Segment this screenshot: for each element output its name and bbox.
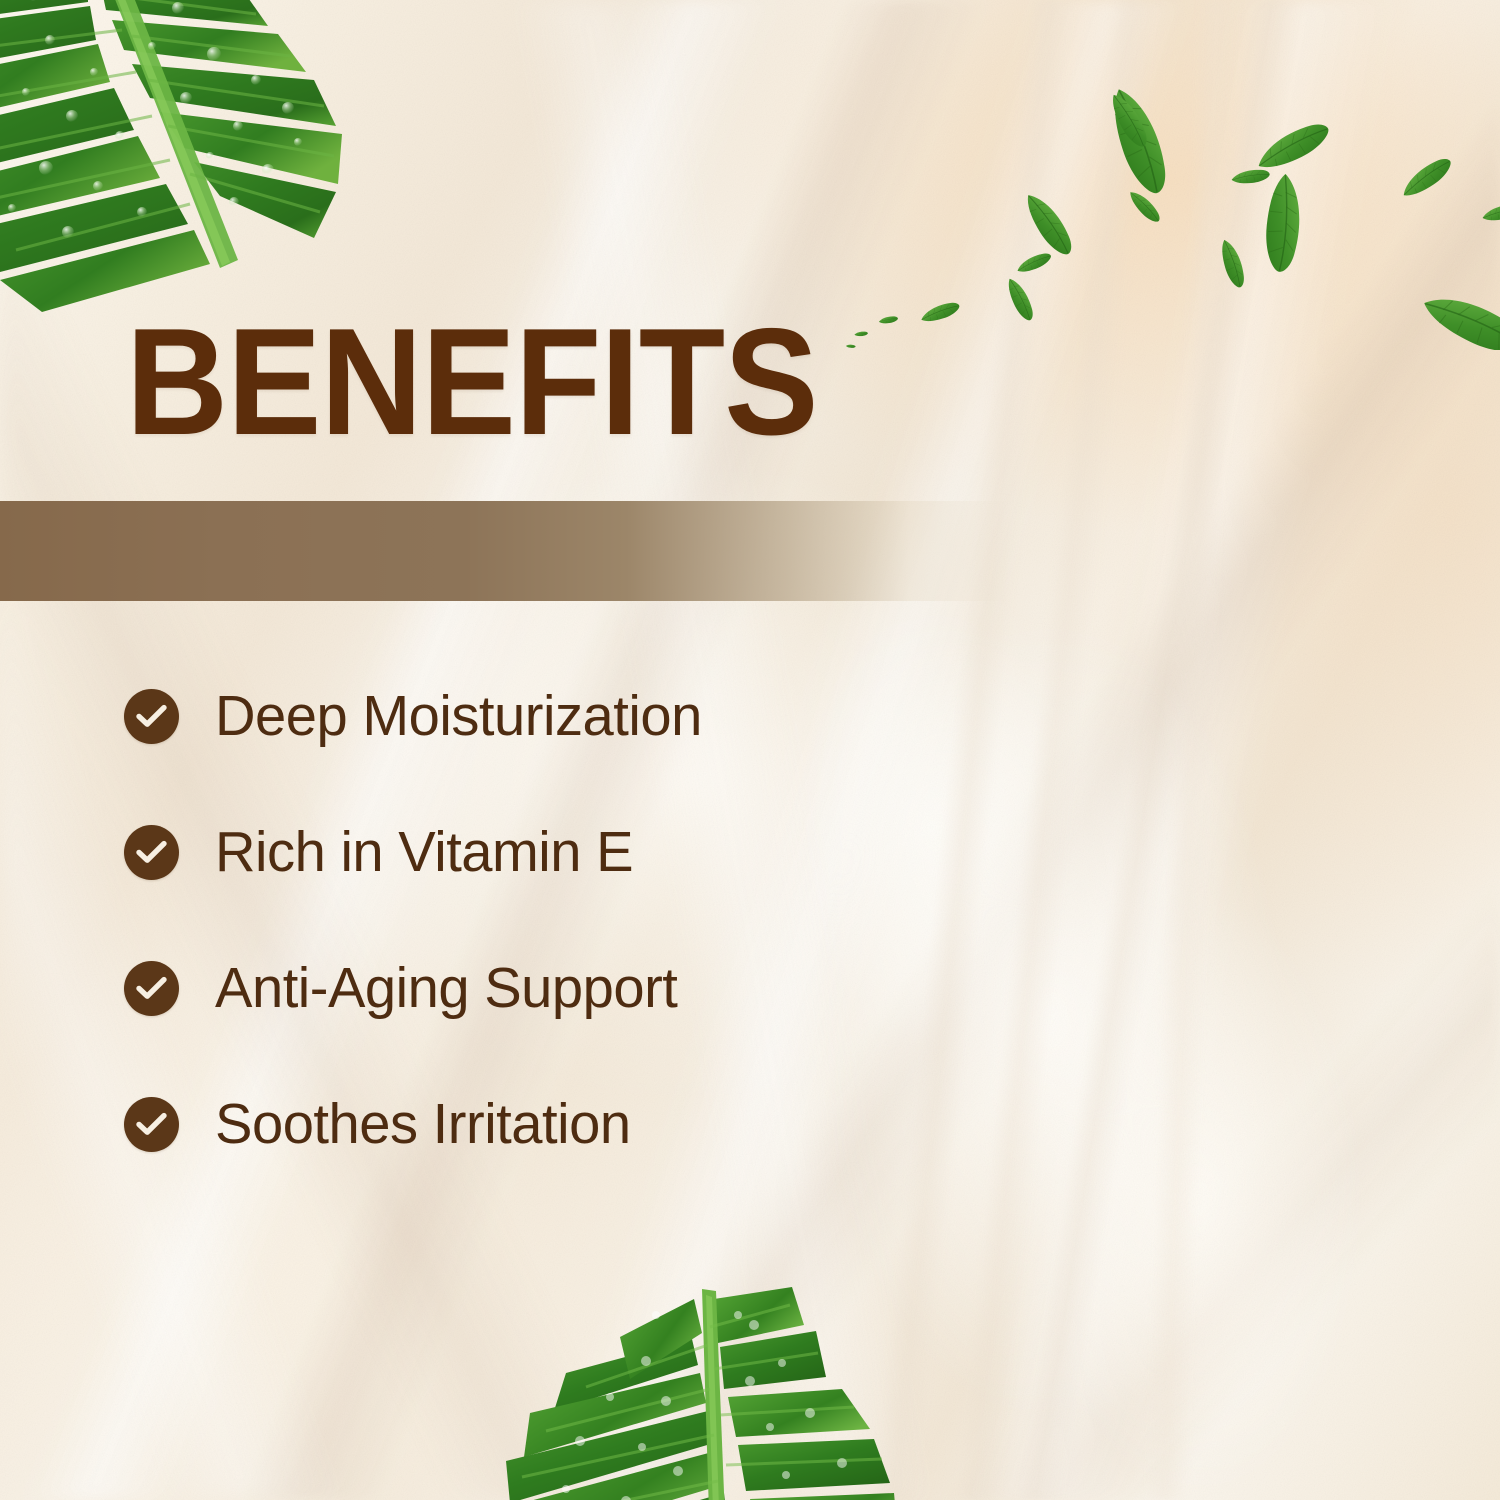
mint-leaf: [854, 331, 868, 336]
mint-leaf: [1231, 168, 1271, 185]
mint-leaf: [1418, 284, 1500, 350]
check-circle-icon: [124, 961, 179, 1016]
mint-leaf: [1004, 275, 1037, 323]
benefit-label: Anti-Aging Support: [215, 960, 677, 1017]
check-circle-icon: [124, 689, 179, 744]
check-circle-icon: [124, 1097, 179, 1152]
mint-leaf: [846, 344, 856, 348]
section-divider-bar: [0, 501, 1010, 601]
benefit-label: Soothes Irritation: [215, 1096, 631, 1153]
list-item: Rich in Vitamin E: [124, 824, 1024, 880]
mint-leaf: [1105, 83, 1174, 199]
mint-leaf: [878, 316, 898, 325]
list-item: Deep Moisturization: [124, 688, 1024, 744]
check-circle-icon: [124, 825, 179, 880]
mint-leaf: [919, 300, 962, 325]
mint-leaf: [1252, 118, 1334, 176]
mint-leaf: [1397, 154, 1455, 202]
benefits-poster: BENEFITS Deep Moisturization Rich in Vit…: [0, 0, 1500, 1500]
monstera-leaf-top-left-icon: [0, 0, 358, 330]
monstera-leaf-bottom-icon: [470, 1285, 940, 1500]
mint-leaf: [1020, 188, 1078, 261]
list-item: Soothes Irritation: [124, 1096, 1024, 1152]
benefits-list: Deep Moisturization Rich in Vitamin E An…: [124, 688, 1024, 1152]
mint-leaf: [1015, 250, 1053, 275]
mint-leaf: [1126, 187, 1163, 226]
benefit-label: Rich in Vitamin E: [215, 824, 633, 881]
page-title: BENEFITS: [126, 306, 818, 458]
mint-leaf: [1218, 237, 1248, 290]
benefit-label: Deep Moisturization: [215, 688, 702, 745]
mint-leaf: [1107, 89, 1152, 151]
mint-leaf: [1481, 202, 1500, 223]
list-item: Anti-Aging Support: [124, 960, 1024, 1016]
scattered-mint-leaves-icon: [840, 60, 1500, 350]
mint-leaf: [1262, 173, 1304, 274]
